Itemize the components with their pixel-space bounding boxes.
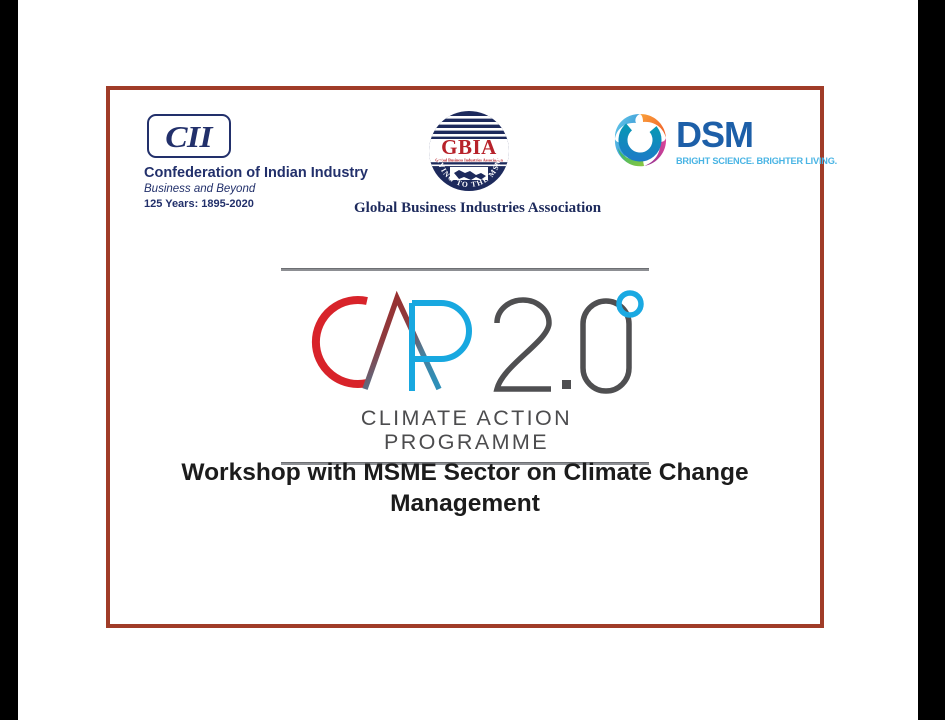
cii-logo-icon: CII — [147, 114, 231, 158]
logo-bar: CII Confederation of Indian Industry Bus… — [110, 90, 820, 245]
svg-text:GBIA: GBIA — [441, 135, 497, 159]
dsm-logo-icon — [610, 110, 670, 170]
dsm-logo-block: DSM BRIGHT SCIENCE. BRIGHTER LIVING. — [610, 110, 830, 170]
cap-2-0-logo: CLIMATE ACTION PROGRAMME — [281, 268, 649, 465]
screenshot-viewport: CII Confederation of Indian Industry Bus… — [0, 0, 945, 720]
cap-subtitle: CLIMATE ACTION PROGRAMME — [281, 406, 649, 454]
dsm-wordmark: DSM — [676, 117, 837, 153]
slide-frame: CII Confederation of Indian Industry Bus… — [106, 86, 824, 628]
cap-wordmark-icon — [281, 279, 649, 404]
dsm-wordmark-block: DSM BRIGHT SCIENCE. BRIGHTER LIVING. — [676, 117, 837, 167]
gbia-logo-icon: GBIA Global Business Industries Associat… — [426, 108, 512, 194]
cii-mark-text: CII — [166, 121, 213, 152]
slide-title: Workshop with MSME Sector on Climate Cha… — [155, 457, 775, 519]
gbia-logo-block: GBIA Global Business Industries Associat… — [354, 108, 584, 217]
slide-canvas: CII Confederation of Indian Industry Bus… — [18, 0, 918, 720]
dsm-tagline: BRIGHT SCIENCE. BRIGHTER LIVING. — [676, 156, 837, 167]
gbia-name: Global Business Industries Association — [354, 200, 584, 217]
cap-rule-top — [281, 268, 649, 271]
